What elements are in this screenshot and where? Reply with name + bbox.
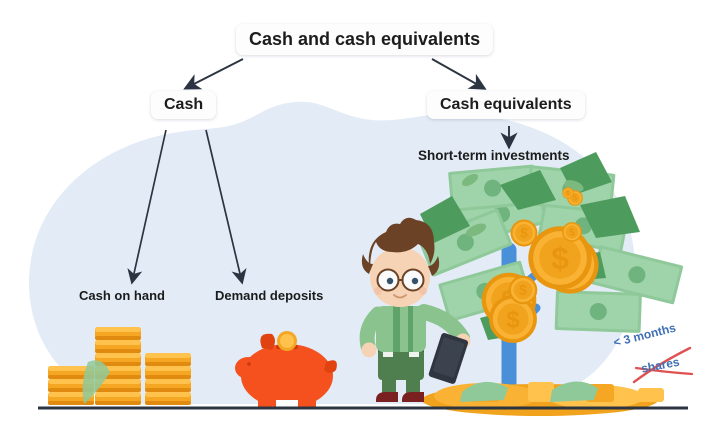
shoe-left (376, 392, 398, 402)
arrow-cash-to-demand-deposits (206, 130, 241, 278)
node-cash[interactable]: Cash (151, 91, 216, 119)
label-demand-deposits: Demand deposits (215, 288, 323, 303)
piggy-eye (247, 362, 251, 366)
coin-stack-medium (145, 353, 191, 405)
arrow-root-to-cash (190, 59, 243, 86)
hand-left (362, 343, 377, 358)
node-cash-and-cash-equivalents[interactable]: Cash and cash equivalents (236, 24, 493, 55)
shoe-right (402, 392, 424, 402)
illustration-canvas: $ (0, 0, 720, 437)
arrow-root-to-cash-equivalents (432, 59, 480, 86)
node-cash-equivalents[interactable]: Cash equivalents (427, 91, 585, 119)
tree-coin-pile (422, 381, 664, 416)
tablet (428, 332, 469, 384)
label-cash-on-hand: Cash on hand (79, 288, 165, 303)
arrow-cash-to-cash-on-hand (133, 130, 166, 278)
label-short-term-investments: Short-term investments (418, 148, 570, 163)
piggy-bank (235, 331, 337, 408)
piggy-ear (260, 334, 275, 350)
piggy-snout (235, 357, 261, 379)
artwork-layer: $ (0, 0, 720, 437)
